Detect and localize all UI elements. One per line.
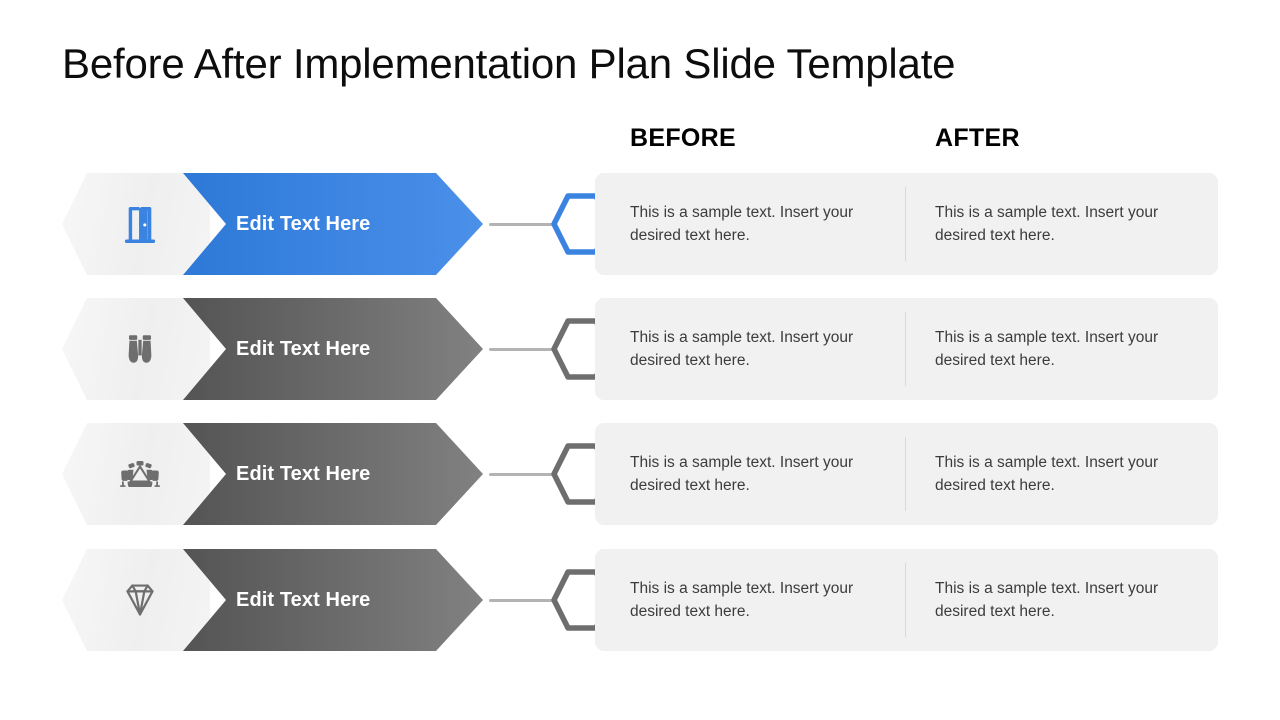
row-label-banner[interactable]: Edit Text Here	[183, 423, 483, 525]
panel-divider	[905, 563, 906, 637]
row-label-text: Edit Text Here	[236, 463, 370, 486]
after-text[interactable]: This is a sample text. Insert your desir…	[935, 326, 1185, 373]
row-content-panel: This is a sample text. Insert your desir…	[595, 298, 1218, 400]
after-text[interactable]: This is a sample text. Insert your desir…	[935, 451, 1185, 498]
row-icon-container	[62, 298, 210, 400]
row-connector-line	[489, 223, 553, 226]
diamond-icon	[110, 570, 170, 630]
page-title: Before After Implementation Plan Slide T…	[62, 40, 1222, 88]
binoculars-icon	[110, 319, 170, 379]
plan-row: Edit Text Here This is a sample text. In…	[0, 549, 1280, 651]
before-text[interactable]: This is a sample text. Insert your desir…	[630, 201, 880, 248]
before-text[interactable]: This is a sample text. Insert your desir…	[630, 451, 880, 498]
row-label-banner[interactable]: Edit Text Here	[183, 298, 483, 400]
before-text[interactable]: This is a sample text. Insert your desir…	[630, 577, 880, 624]
row-label-banner[interactable]: Edit Text Here	[183, 549, 483, 651]
before-text[interactable]: This is a sample text. Insert your desir…	[630, 326, 880, 373]
meeting-table-icon	[110, 444, 170, 504]
after-text[interactable]: This is a sample text. Insert your desir…	[935, 201, 1185, 248]
row-label-banner[interactable]: Edit Text Here	[183, 173, 483, 275]
plan-row: Edit Text Here This is a sample text. In…	[0, 423, 1280, 525]
open-door-icon	[110, 194, 170, 254]
column-header-before: BEFORE	[630, 124, 736, 153]
row-connector-line	[489, 599, 553, 602]
column-header-after: AFTER	[935, 124, 1020, 153]
panel-divider	[905, 187, 906, 261]
plan-row: Edit Text Here This is a sample text. In…	[0, 173, 1280, 275]
row-content-panel: This is a sample text. Insert your desir…	[595, 423, 1218, 525]
row-icon-container	[62, 173, 210, 275]
row-connector-line	[489, 473, 553, 476]
slide-canvas: Before After Implementation Plan Slide T…	[0, 0, 1280, 720]
row-icon-container	[62, 549, 210, 651]
row-icon-container	[62, 423, 210, 525]
after-text[interactable]: This is a sample text. Insert your desir…	[935, 577, 1185, 624]
panel-divider	[905, 312, 906, 386]
row-label-text: Edit Text Here	[236, 589, 370, 612]
plan-row: Edit Text Here This is a sample text. In…	[0, 298, 1280, 400]
row-content-panel: This is a sample text. Insert your desir…	[595, 173, 1218, 275]
panel-divider	[905, 437, 906, 511]
row-content-panel: This is a sample text. Insert your desir…	[595, 549, 1218, 651]
row-label-text: Edit Text Here	[236, 338, 370, 361]
row-label-text: Edit Text Here	[236, 213, 370, 236]
row-connector-line	[489, 348, 553, 351]
